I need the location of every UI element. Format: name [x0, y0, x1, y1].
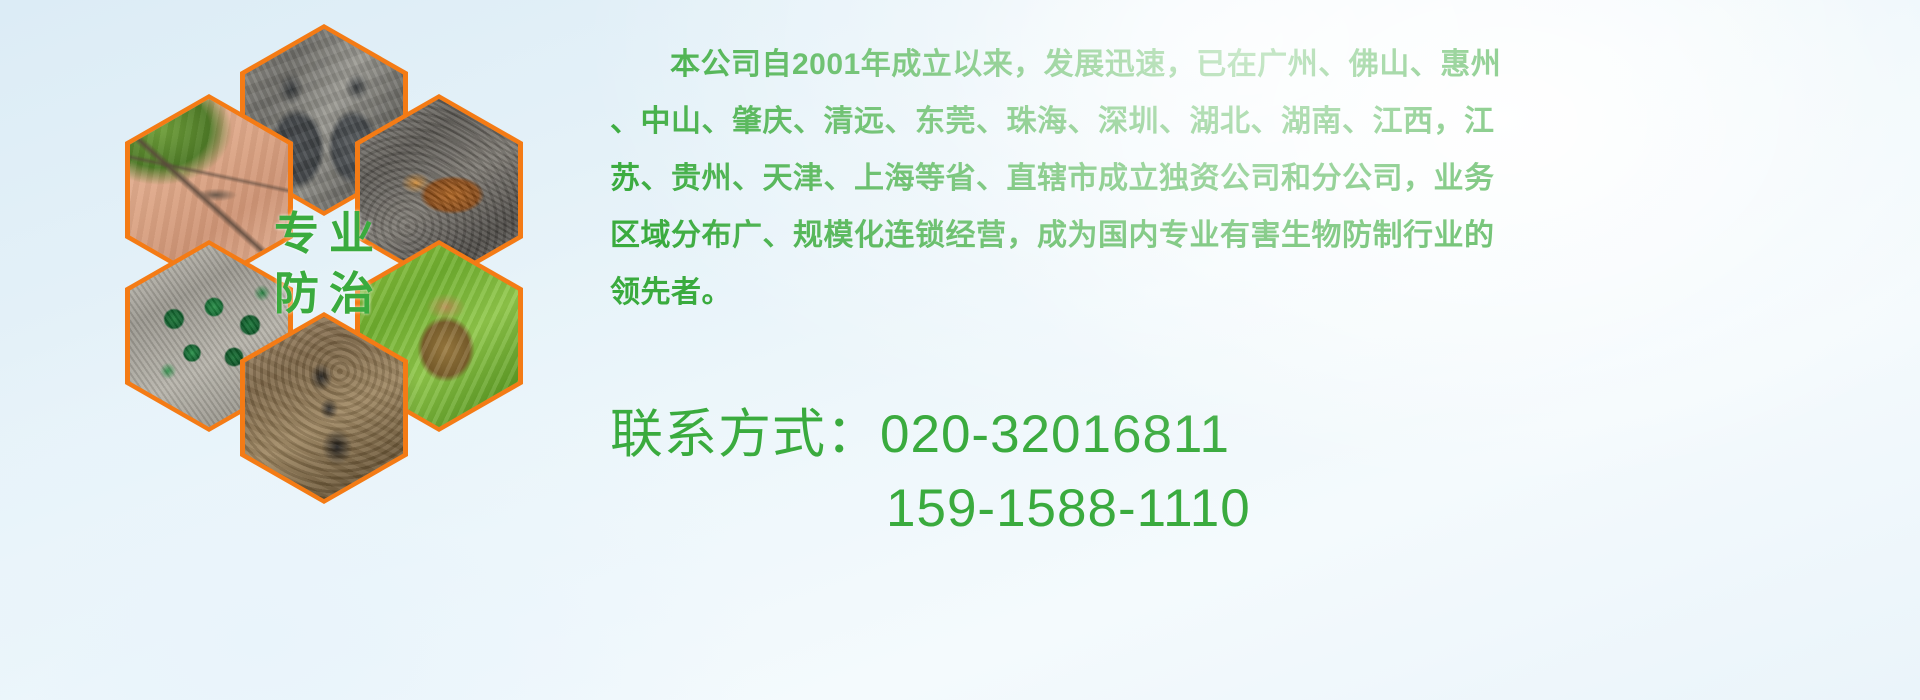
intro-line-5: 领先者。	[610, 264, 1900, 321]
center-label-line-1: 专业	[264, 206, 384, 262]
contact-phone-secondary[interactable]: 159-1588-1110	[610, 472, 1710, 546]
intro-line-4: 区域分布广、规模化连锁经营，成为国内专业有害生物防制行业的	[610, 207, 1900, 264]
contact-phone-primary[interactable]: 联系方式：020-32016811	[610, 398, 1710, 472]
honeycomb-collage: 专业 防治	[90, 8, 590, 568]
intro-line-1: 本公司自2001年成立以来，发展迅速，已在广州、佛山、惠州	[610, 36, 1900, 93]
intro-line-2: 、中山、肇庆、清远、东莞、珠海、深圳、湖北、湖南、江西，江	[610, 93, 1900, 150]
intro-paragraph: 本公司自2001年成立以来，发展迅速，已在广州、佛山、惠州 、中山、肇庆、清远、…	[610, 36, 1900, 321]
center-label-line-2: 防治	[264, 266, 384, 322]
intro-line-3: 苏、贵州、天津、上海等省、直辖市成立独资公司和分公司，业务	[610, 150, 1900, 207]
contact-block: 联系方式：020-32016811 159-1588-1110	[610, 398, 1710, 546]
promo-banner: 专业 防治 本公司自2001年成立以来，发展迅速，已在广州、佛山、惠州 、中山、…	[0, 0, 1920, 700]
